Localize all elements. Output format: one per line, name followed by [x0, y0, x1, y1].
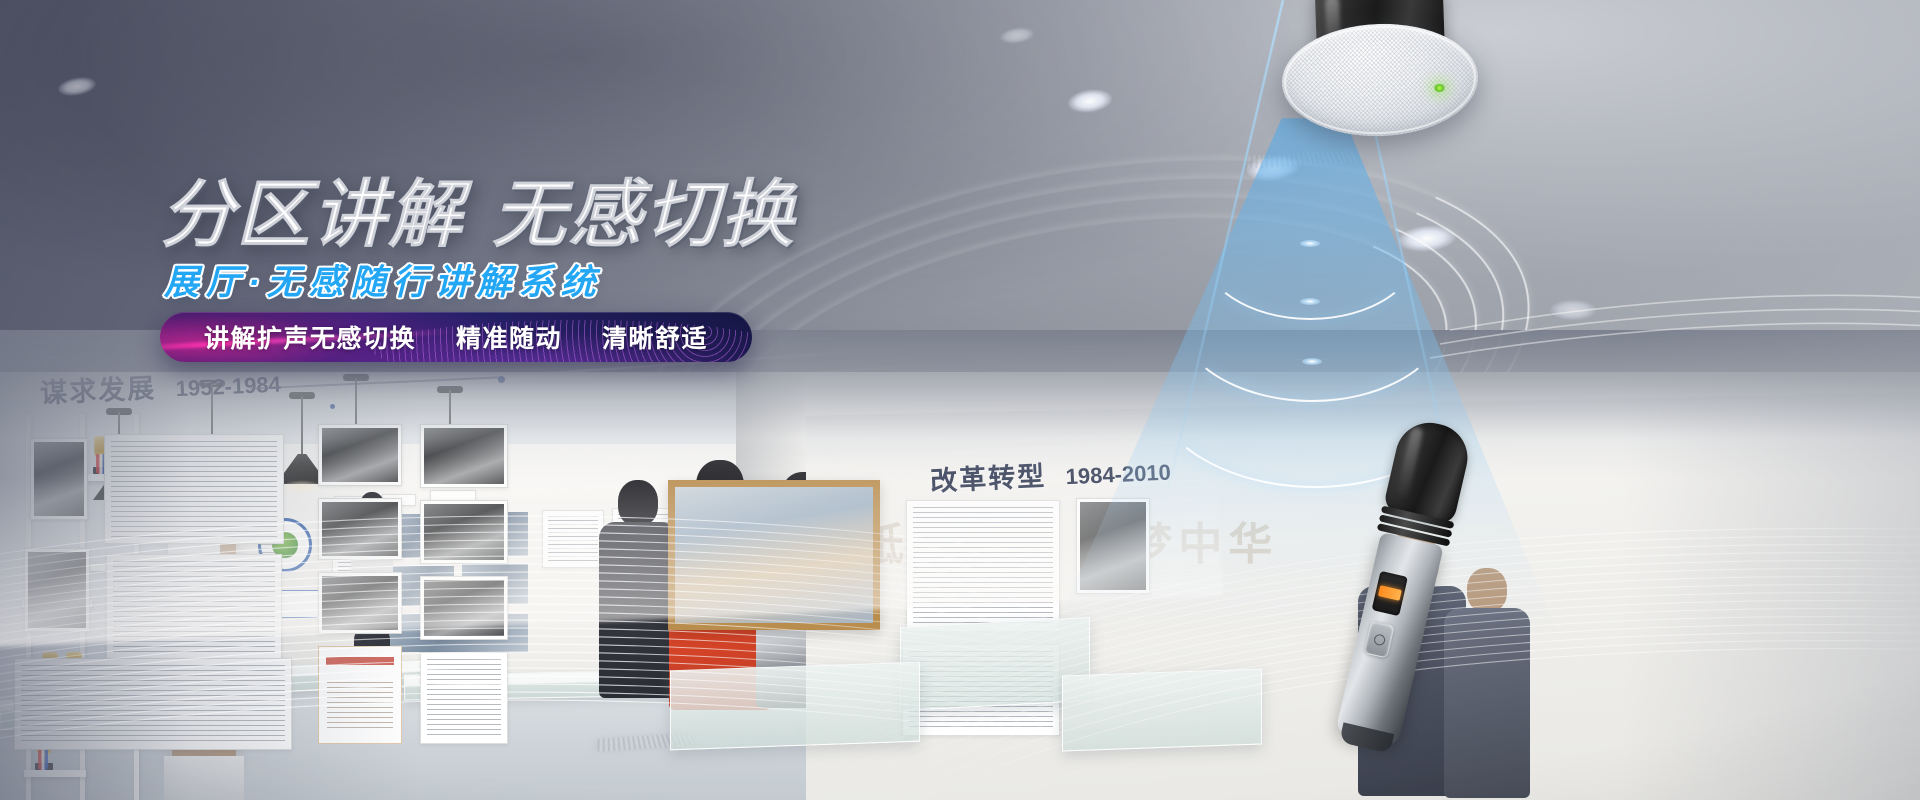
banner-headline: 分区讲解无感切换	[160, 176, 940, 254]
headline-part-2: 无感切换	[492, 173, 796, 256]
banner-copy-block: 分区讲解无感切换 展厅·无感随行讲解系统 讲解扩声无感切换 精准随动 清晰舒适	[160, 176, 940, 303]
feature-pill-item-2: 精准随动	[456, 319, 562, 355]
promo-banner: 砥砺百十 圆梦中华 谋求发展 1952-1984 改革转型 1984-2010	[0, 0, 1920, 800]
banner-subheadline: 展厅·无感随行讲解系统	[164, 264, 940, 303]
feature-pill: 讲解扩声无感切换 精准随动 清晰舒适	[160, 312, 752, 362]
feature-pill-item-1: 讲解扩声无感切换	[204, 319, 416, 355]
headline-part-1: 分区讲解	[160, 173, 464, 256]
banner-vignette	[0, 0, 1920, 800]
feature-pill-item-3: 清晰舒适	[602, 319, 708, 355]
